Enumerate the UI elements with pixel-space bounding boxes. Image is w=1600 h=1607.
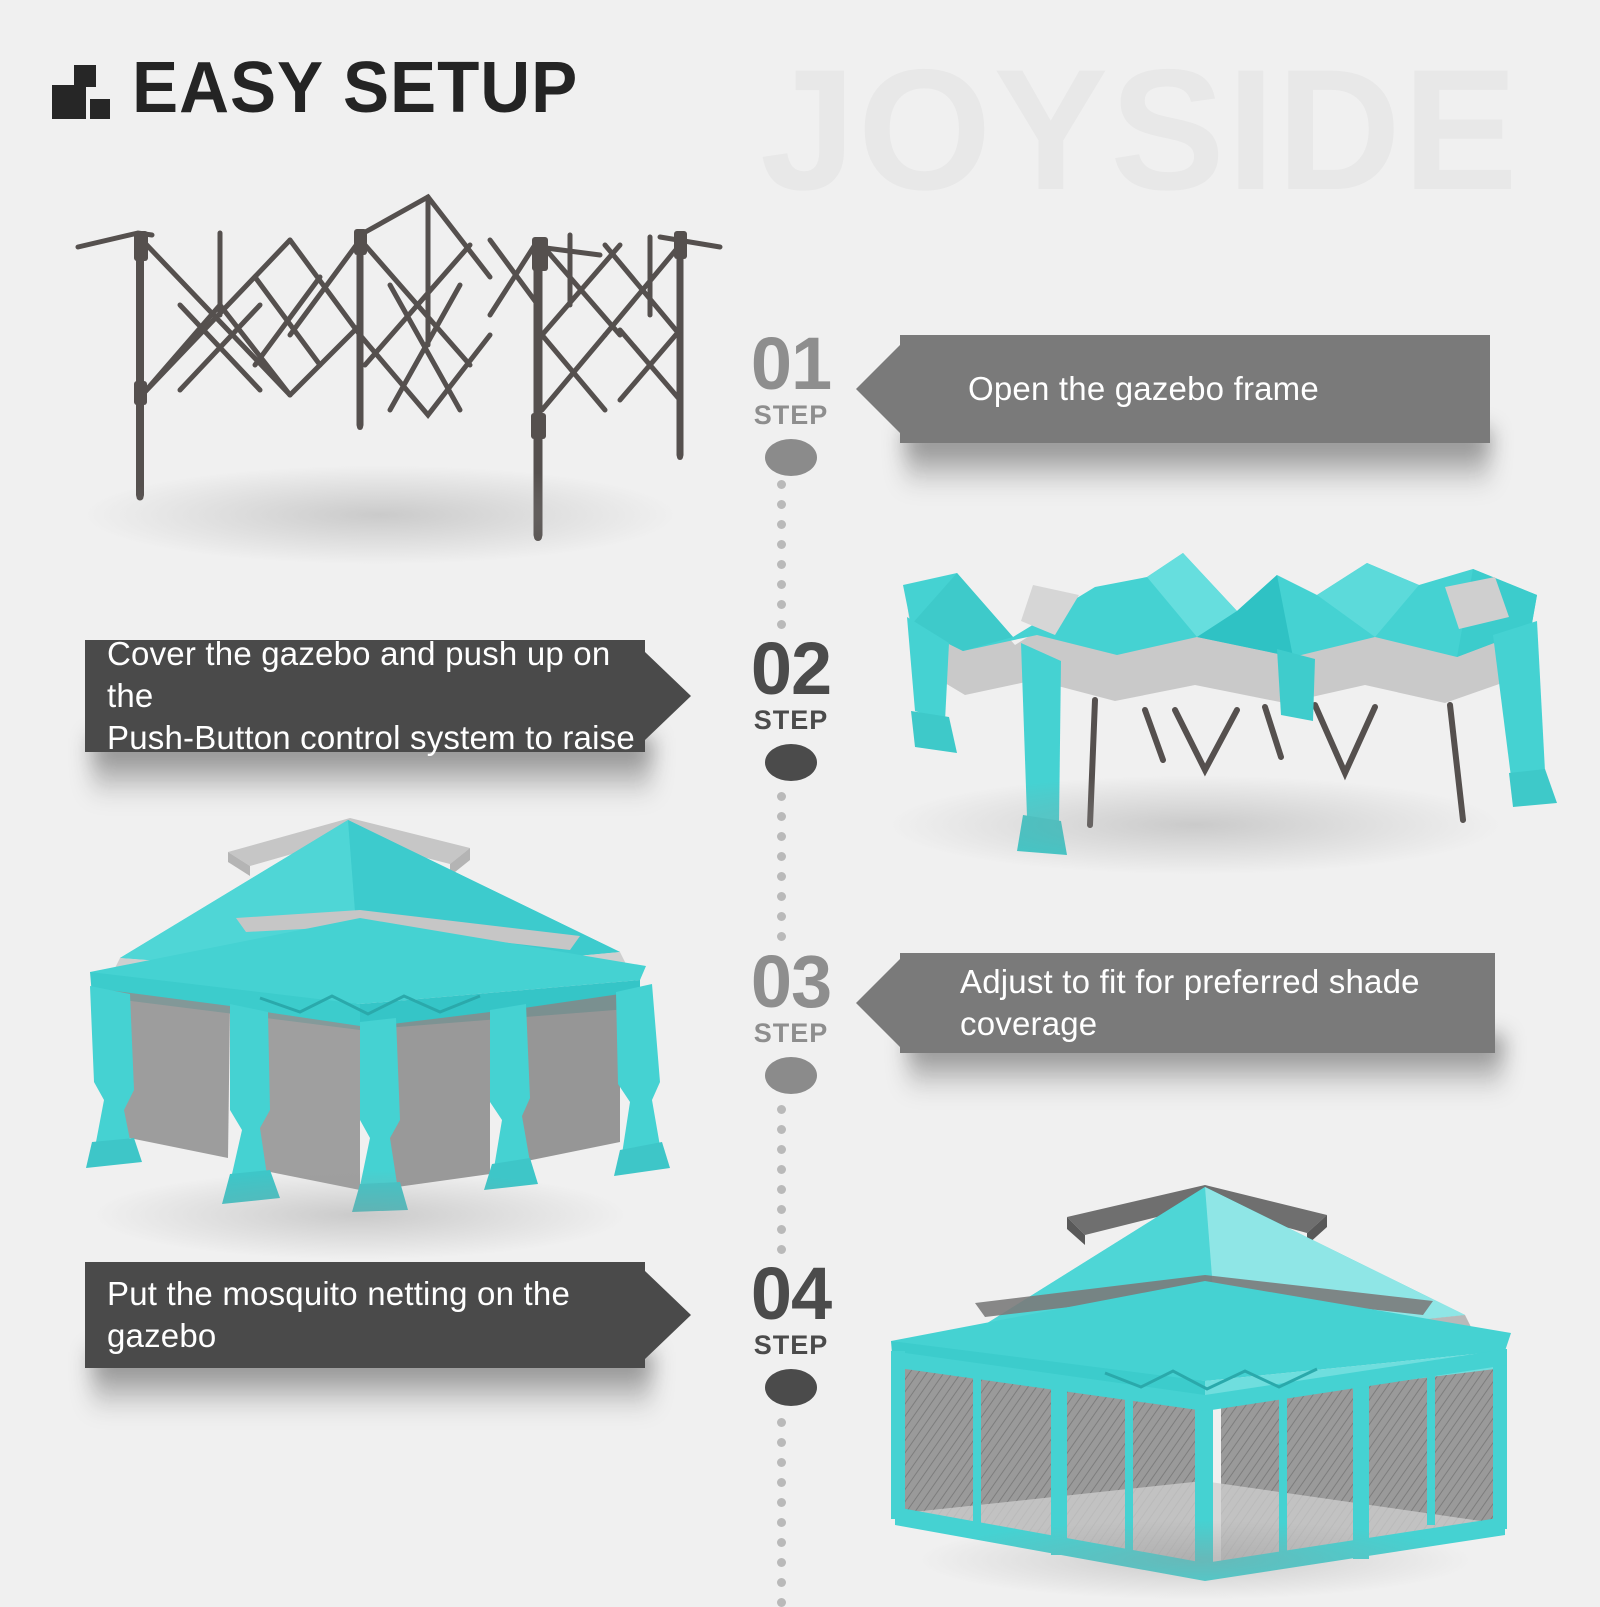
timeline-dot [777,1145,786,1154]
timeline-dot [777,1458,786,1467]
timeline-node-1[interactable]: 01 STEP [741,330,841,476]
infographic-canvas: JOYSIDE EASY SETUP [0,0,1600,1600]
timeline-dot [777,912,786,921]
step-1-number: 01 [741,330,841,398]
timeline-dot [777,852,786,861]
timeline-dot [777,1105,786,1114]
callout-arrow-right-icon [645,1271,691,1359]
timeline-dot [777,600,786,609]
step-3-callout: Adjust to fit for preferred shade covera… [900,953,1495,1053]
gazebo-frame-photo [60,185,740,565]
step-1-label: STEP [741,400,841,431]
timeline-dot [777,792,786,801]
timeline-dot [777,1598,786,1607]
step-1-callout: Open the gazebo frame [900,335,1490,443]
timeline-dot [777,1418,786,1427]
step-3-number: 03 [741,948,841,1016]
step-4-number: 04 [741,1260,841,1328]
step-2-label: STEP [741,705,841,736]
timeline-dot [777,872,786,881]
timeline-dot [777,1125,786,1134]
timeline-dot [777,1225,786,1234]
step-2-callout: Cover the gazebo and push up on the Push… [85,640,645,752]
step-3-text: Adjust to fit for preferred shade covera… [960,961,1495,1045]
timeline-dot [777,480,786,489]
timeline-dot [777,1578,786,1587]
callout-arrow-left-icon [856,959,900,1047]
timeline-node-3[interactable]: 03 STEP [741,948,841,1094]
step-1-bullet [765,439,817,476]
timeline-dot [777,832,786,841]
timeline-dot [777,1498,786,1507]
step-4-callout: Put the mosquito netting on the gazebo [85,1262,645,1368]
timeline-dot [777,520,786,529]
timeline-dot [777,1518,786,1527]
timeline-dot [777,580,786,589]
timeline-dot [777,812,786,821]
timeline-node-4[interactable]: 04 STEP [741,1260,841,1406]
step-3-bullet [765,1057,817,1094]
timeline-dot [777,500,786,509]
timeline-dot [777,1478,786,1487]
timeline-node-2[interactable]: 02 STEP [741,635,841,781]
step-4-text: Put the mosquito netting on the gazebo [107,1273,645,1357]
timeline-dot [777,1558,786,1567]
step-2-text: Cover the gazebo and push up on the Push… [107,633,645,760]
step-2-number: 02 [741,635,841,703]
step-4-label: STEP [741,1330,841,1361]
timeline-dot [777,892,786,901]
timeline-dot [777,1205,786,1214]
timeline-dot [777,1538,786,1547]
gazebo-with-mosquito-netting-photo [855,1145,1555,1600]
three-squares-icon [52,57,110,119]
step-4-bullet [765,1369,817,1406]
timeline-dot [777,540,786,549]
step-3-label: STEP [741,1018,841,1049]
step-2-bullet [765,744,817,781]
callout-arrow-left-icon [856,345,900,433]
brand-watermark: JOYSIDE [760,44,1520,216]
callout-arrow-right-icon [645,652,691,740]
page-title: EASY SETUP [132,52,578,124]
gazebo-raised-with-curtains-photo [60,790,680,1260]
timeline-dot [777,1185,786,1194]
steps-timeline: 01 STEP 02 STEP 03 STEP 04 STEP [733,330,853,1600]
timeline-dot [777,1438,786,1447]
gazebo-draped-canopy-photo [845,525,1575,875]
page-header: EASY SETUP [52,52,597,124]
timeline-dot [777,1165,786,1174]
timeline-dot [777,560,786,569]
step-1-text: Open the gazebo frame [968,368,1319,410]
